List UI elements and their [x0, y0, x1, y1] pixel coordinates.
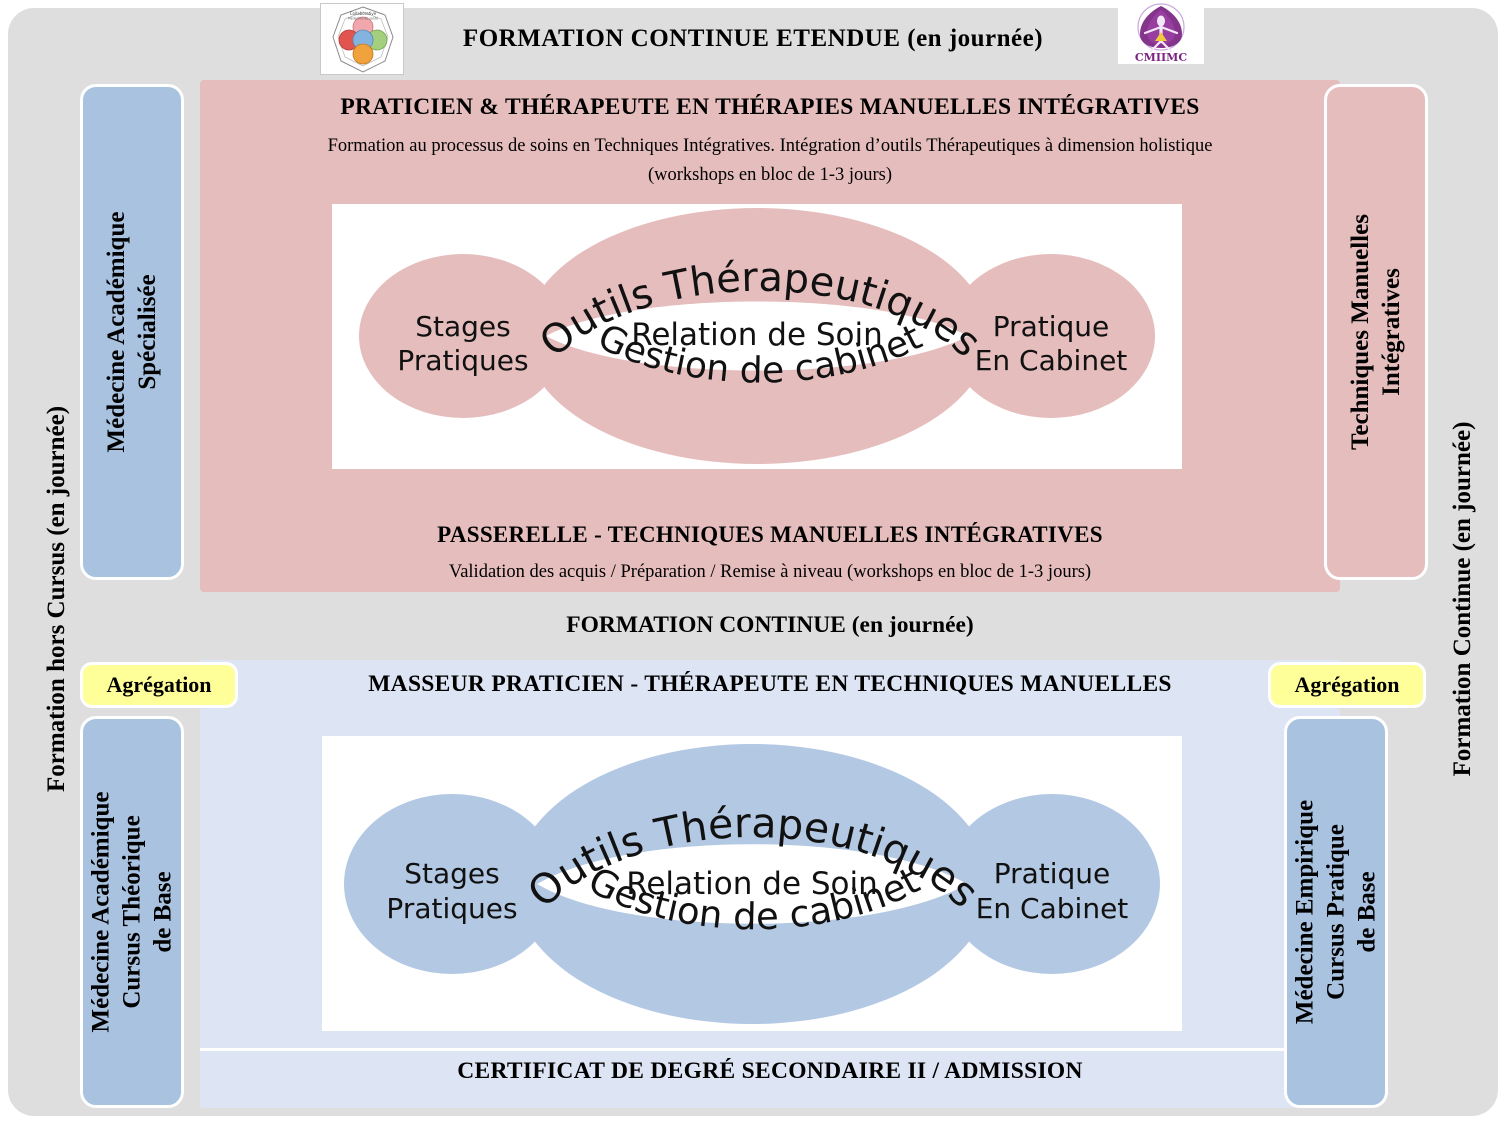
side-box-mecp-line-3: de Base	[1352, 800, 1383, 1024]
side-box-techniques-manuelles-integratives-label: Techniques Manuelles Intégratives	[1345, 214, 1407, 450]
side-box-medecine-empirique-cursus-pratique-label: Médecine Empirique Cursus Pratique de Ba…	[1290, 800, 1383, 1024]
top-subtitle-line-2: (workshops en bloc de 1-3 jours)	[240, 161, 1300, 190]
header-band: FORMATION CONTINUE ETENDUE (en journée)	[0, 0, 1506, 78]
side-box-mact-line-1: Médecine Académique	[86, 792, 117, 1033]
side-box-medecine-empirique-cursus-pratique[interactable]: Médecine Empirique Cursus Pratique de Ba…	[1284, 716, 1388, 1108]
cmiimc-logo-text: CMIIMC	[1135, 51, 1187, 64]
bottom-blue-section: Outils Thérapeutiques Gestion de cabinet…	[200, 708, 1340, 1108]
passerelle-heading: PASSERELLE - TECHNIQUES MANUELLES INTÉGR…	[200, 522, 1340, 548]
side-box-mas-line-1: Médecine Académique	[101, 212, 132, 453]
page-title: FORMATION CONTINUE ETENDUE (en journée)	[463, 25, 1043, 53]
passerelle-band: PASSERELLE - TECHNIQUES MANUELLES INTÉGR…	[200, 504, 1340, 592]
top-subtitle-line-1: Formation au processus de soins en Techn…	[240, 132, 1300, 161]
top-section-subtitle: Formation au processus de soins en Techn…	[240, 132, 1300, 190]
side-box-medecine-academique-cursus-theorique-label: Médecine Académique Cursus Théorique de …	[86, 792, 179, 1033]
side-box-medecine-academique-specialisee-label: Médecine Académique Spécialisée	[101, 212, 163, 453]
top-section-heading: PRATICIEN & THÉRAPEUTE EN THÉRAPIES MANU…	[200, 94, 1340, 121]
side-box-medecine-academique-cursus-theorique[interactable]: Médecine Académique Cursus Théorique de …	[80, 716, 184, 1108]
side-box-techniques-manuelles-integratives[interactable]: Techniques Manuelles Intégratives	[1324, 84, 1428, 580]
side-box-mact-line-3: de Base	[148, 792, 179, 1033]
right-outer-vertical-label: Formation Continue (en journée)	[1449, 249, 1477, 949]
agregation-tag-right[interactable]: Agrégation	[1268, 662, 1426, 708]
bottom-venn-diagram: Outils Thérapeutiques Gestion de cabinet…	[322, 736, 1182, 1031]
side-box-mecp-line-2: Cursus Pratique	[1321, 800, 1352, 1024]
masseur-title: MASSEUR PRATICIEN - THÉRAPEUTE EN TECHNI…	[368, 671, 1172, 698]
passerelle-subtitle: Validation des acquis / Préparation / Re…	[200, 562, 1340, 583]
cmiimc-logo-icon: CMIIMC	[1118, 0, 1204, 64]
masseur-title-row: MASSEUR PRATICIEN - THÉRAPEUTE EN TECHNI…	[200, 660, 1340, 708]
side-box-tmi-line-2: Intégratives	[1376, 214, 1407, 450]
top-venn-diagram: Outils Thérapeutiques Gestion de cabinet…	[332, 204, 1182, 469]
top-pink-section: PRATICIEN & THÉRAPEUTE EN THÉRAPIES MANU…	[200, 80, 1340, 592]
agregation-tag-left[interactable]: Agrégation	[80, 662, 238, 708]
side-box-mact-line-2: Cursus Théorique	[117, 792, 148, 1033]
certificat-divider	[200, 1048, 1340, 1051]
side-box-medecine-academique-specialisee[interactable]: Médecine Académique Spécialisée	[80, 84, 184, 580]
side-box-mecp-line-1: Médecine Empirique	[1290, 800, 1321, 1024]
left-outer-vertical-label: Formation hors Cursus (en journée)	[43, 249, 71, 949]
certificat-label: CERTIFICAT DE DEGRÉ SECONDAIRE II / ADMI…	[200, 1058, 1340, 1085]
side-box-tmi-line-1: Techniques Manuelles	[1345, 214, 1376, 450]
svg-text:Médecine de santé: Médecine de santé	[348, 17, 378, 21]
middle-band-label: FORMATION CONTINUE (en journée)	[200, 612, 1340, 639]
collaborative-medicine-logo-icon: Collaborative Médecine de santé	[320, 3, 404, 75]
side-box-mas-line-2: Spécialisée	[132, 212, 163, 453]
svg-text:Collaborative: Collaborative	[350, 11, 377, 16]
